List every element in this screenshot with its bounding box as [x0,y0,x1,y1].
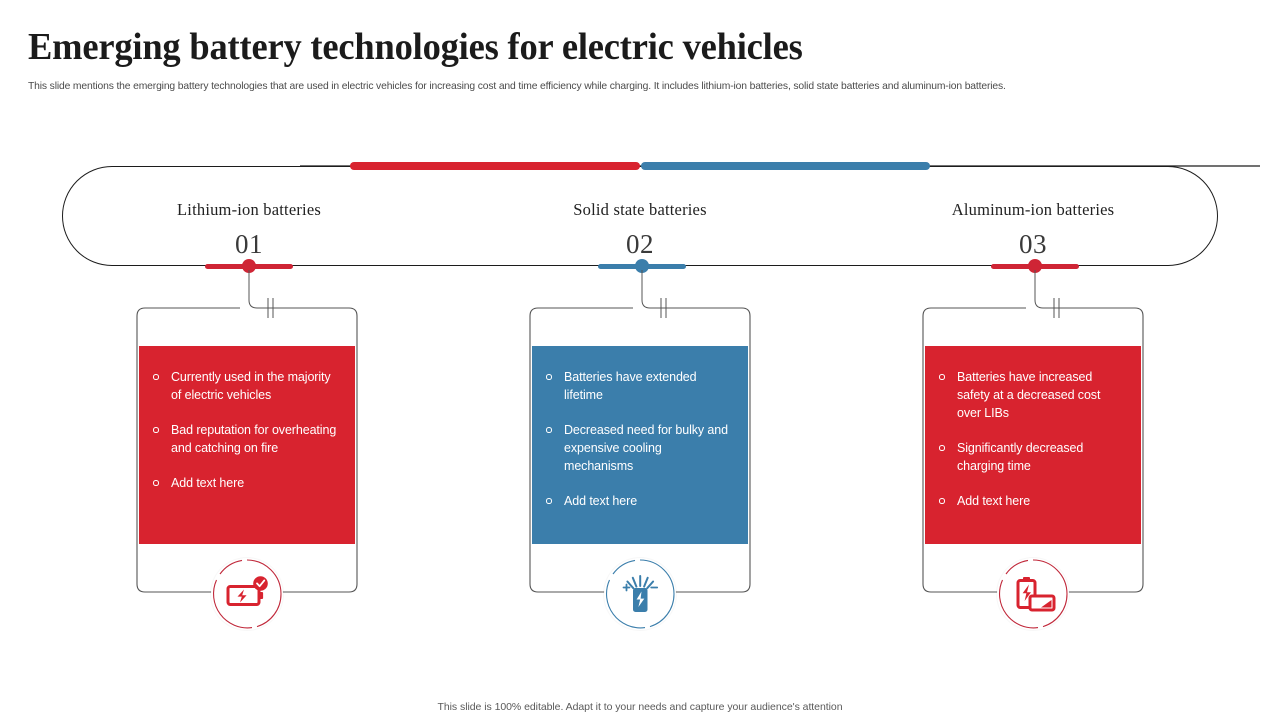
topbar-red-segment [350,162,640,170]
bullet-circle-icon [153,374,159,380]
column-number: 01 [84,229,414,260]
column-header-aluminum-ion: Aluminum-ion batteries 03 [868,200,1198,260]
column-title: Solid state batteries [475,200,805,220]
card-panel: Currently used in the majority of electr… [139,346,355,544]
bullet-text: Batteries have extended lifetime [564,370,697,402]
list-item: Add text here [938,492,1127,510]
bullet-circle-icon [153,480,159,486]
card-solid-state: Batteries have extended lifetime Decreas… [528,306,752,594]
card-panel: Batteries have extended lifetime Decreas… [532,346,748,544]
list-item: Batteries have increased safety at a dec… [938,368,1127,422]
bullet-circle-icon [939,445,945,451]
bullet-text: Add text here [171,476,244,490]
bullet-text: Add text here [957,494,1030,508]
list-item: Add text here [152,474,341,492]
icon-badge-lithium-ion [211,558,283,630]
column-title: Aluminum-ion batteries [868,200,1198,220]
list-item: Decreased need for bulky and expensive c… [545,421,734,475]
column-number: 02 [475,229,805,260]
card-lithium-ion: Currently used in the majority of electr… [135,306,359,594]
battery-cell-terminals-icon [604,558,676,630]
topbar-blue-segment [641,162,930,170]
slide-canvas: Emerging battery technologies for electr… [0,0,1280,720]
bullet-text: Batteries have increased safety at a dec… [957,370,1100,420]
marker-dot [1028,259,1042,273]
list-item: Significantly decreased charging time [938,439,1127,475]
list-item: Bad reputation for overheating and catch… [152,421,341,457]
card-panel: Batteries have increased safety at a dec… [925,346,1141,544]
marker-dot [635,259,649,273]
list-item: Add text here [545,492,734,510]
bullet-circle-icon [546,374,552,380]
icon-badge-aluminum-ion [997,558,1069,630]
list-item: Currently used in the majority of electr… [152,368,341,404]
card-aluminum-ion: Batteries have increased safety at a dec… [921,306,1145,594]
bullet-circle-icon [153,427,159,433]
bullet-text: Currently used in the majority of electr… [171,370,331,402]
icon-badge-solid-state [604,558,676,630]
bullet-text: Add text here [564,494,637,508]
battery-charging-check-icon [211,558,283,630]
bullet-list: Batteries have extended lifetime Decreas… [545,368,734,510]
dual-battery-level-icon [997,558,1069,630]
column-header-lithium-ion: Lithium-ion batteries 01 [84,200,414,260]
list-item: Batteries have extended lifetime [545,368,734,404]
column-header-solid-state: Solid state batteries 02 [475,200,805,260]
timeline-marker-3 [991,262,1079,270]
bullet-text: Bad reputation for overheating and catch… [171,423,336,455]
bullet-list: Batteries have increased safety at a dec… [938,368,1127,510]
bullet-circle-icon [939,498,945,504]
bullet-text: Decreased need for bulky and expensive c… [564,423,728,473]
bullet-text: Significantly decreased charging time [957,441,1083,473]
column-title: Lithium-ion batteries [84,200,414,220]
bullet-circle-icon [939,374,945,380]
footer-note: This slide is 100% editable. Adapt it to… [0,701,1280,713]
page-title: Emerging battery technologies for electr… [28,25,803,69]
marker-dot [242,259,256,273]
column-number: 03 [868,229,1198,260]
bullet-list: Currently used in the majority of electr… [152,368,341,492]
bullet-circle-icon [546,427,552,433]
timeline-marker-1 [205,262,293,270]
timeline-marker-2 [598,262,686,270]
bullet-circle-icon [546,498,552,504]
page-subtitle: This slide mentions the emerging battery… [28,80,1006,92]
